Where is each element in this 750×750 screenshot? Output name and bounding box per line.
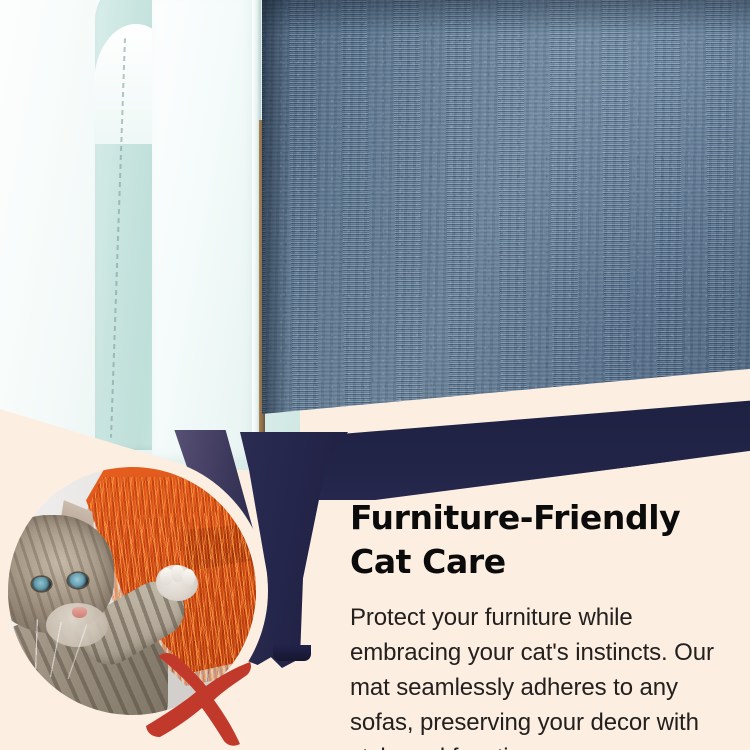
sofa-leg-foot [273, 645, 311, 661]
description-text: Protect your furniture while embracing y… [350, 600, 742, 750]
mat-left-shadow [262, 0, 290, 414]
cat-scratching-mat [262, 0, 750, 414]
mat-noise-texture [262, 0, 750, 414]
page-title: Furniture-Friendly Cat Care [350, 496, 742, 584]
cat-eye-left [32, 577, 51, 591]
product-poster: Furniture-Friendly Cat Care Protect your… [0, 0, 750, 750]
sofa-scene-photo [0, 0, 750, 500]
cat-eye-right [68, 573, 88, 588]
red-x-mark-icon [140, 640, 260, 750]
sofa-front-panel [152, 0, 260, 460]
cat-toe [182, 569, 195, 586]
cat-nose [72, 607, 87, 618]
cat-paw [156, 565, 198, 601]
text-panel: Furniture-Friendly Cat Care Protect your… [350, 496, 742, 750]
mat-top-shadow [262, 0, 750, 34]
